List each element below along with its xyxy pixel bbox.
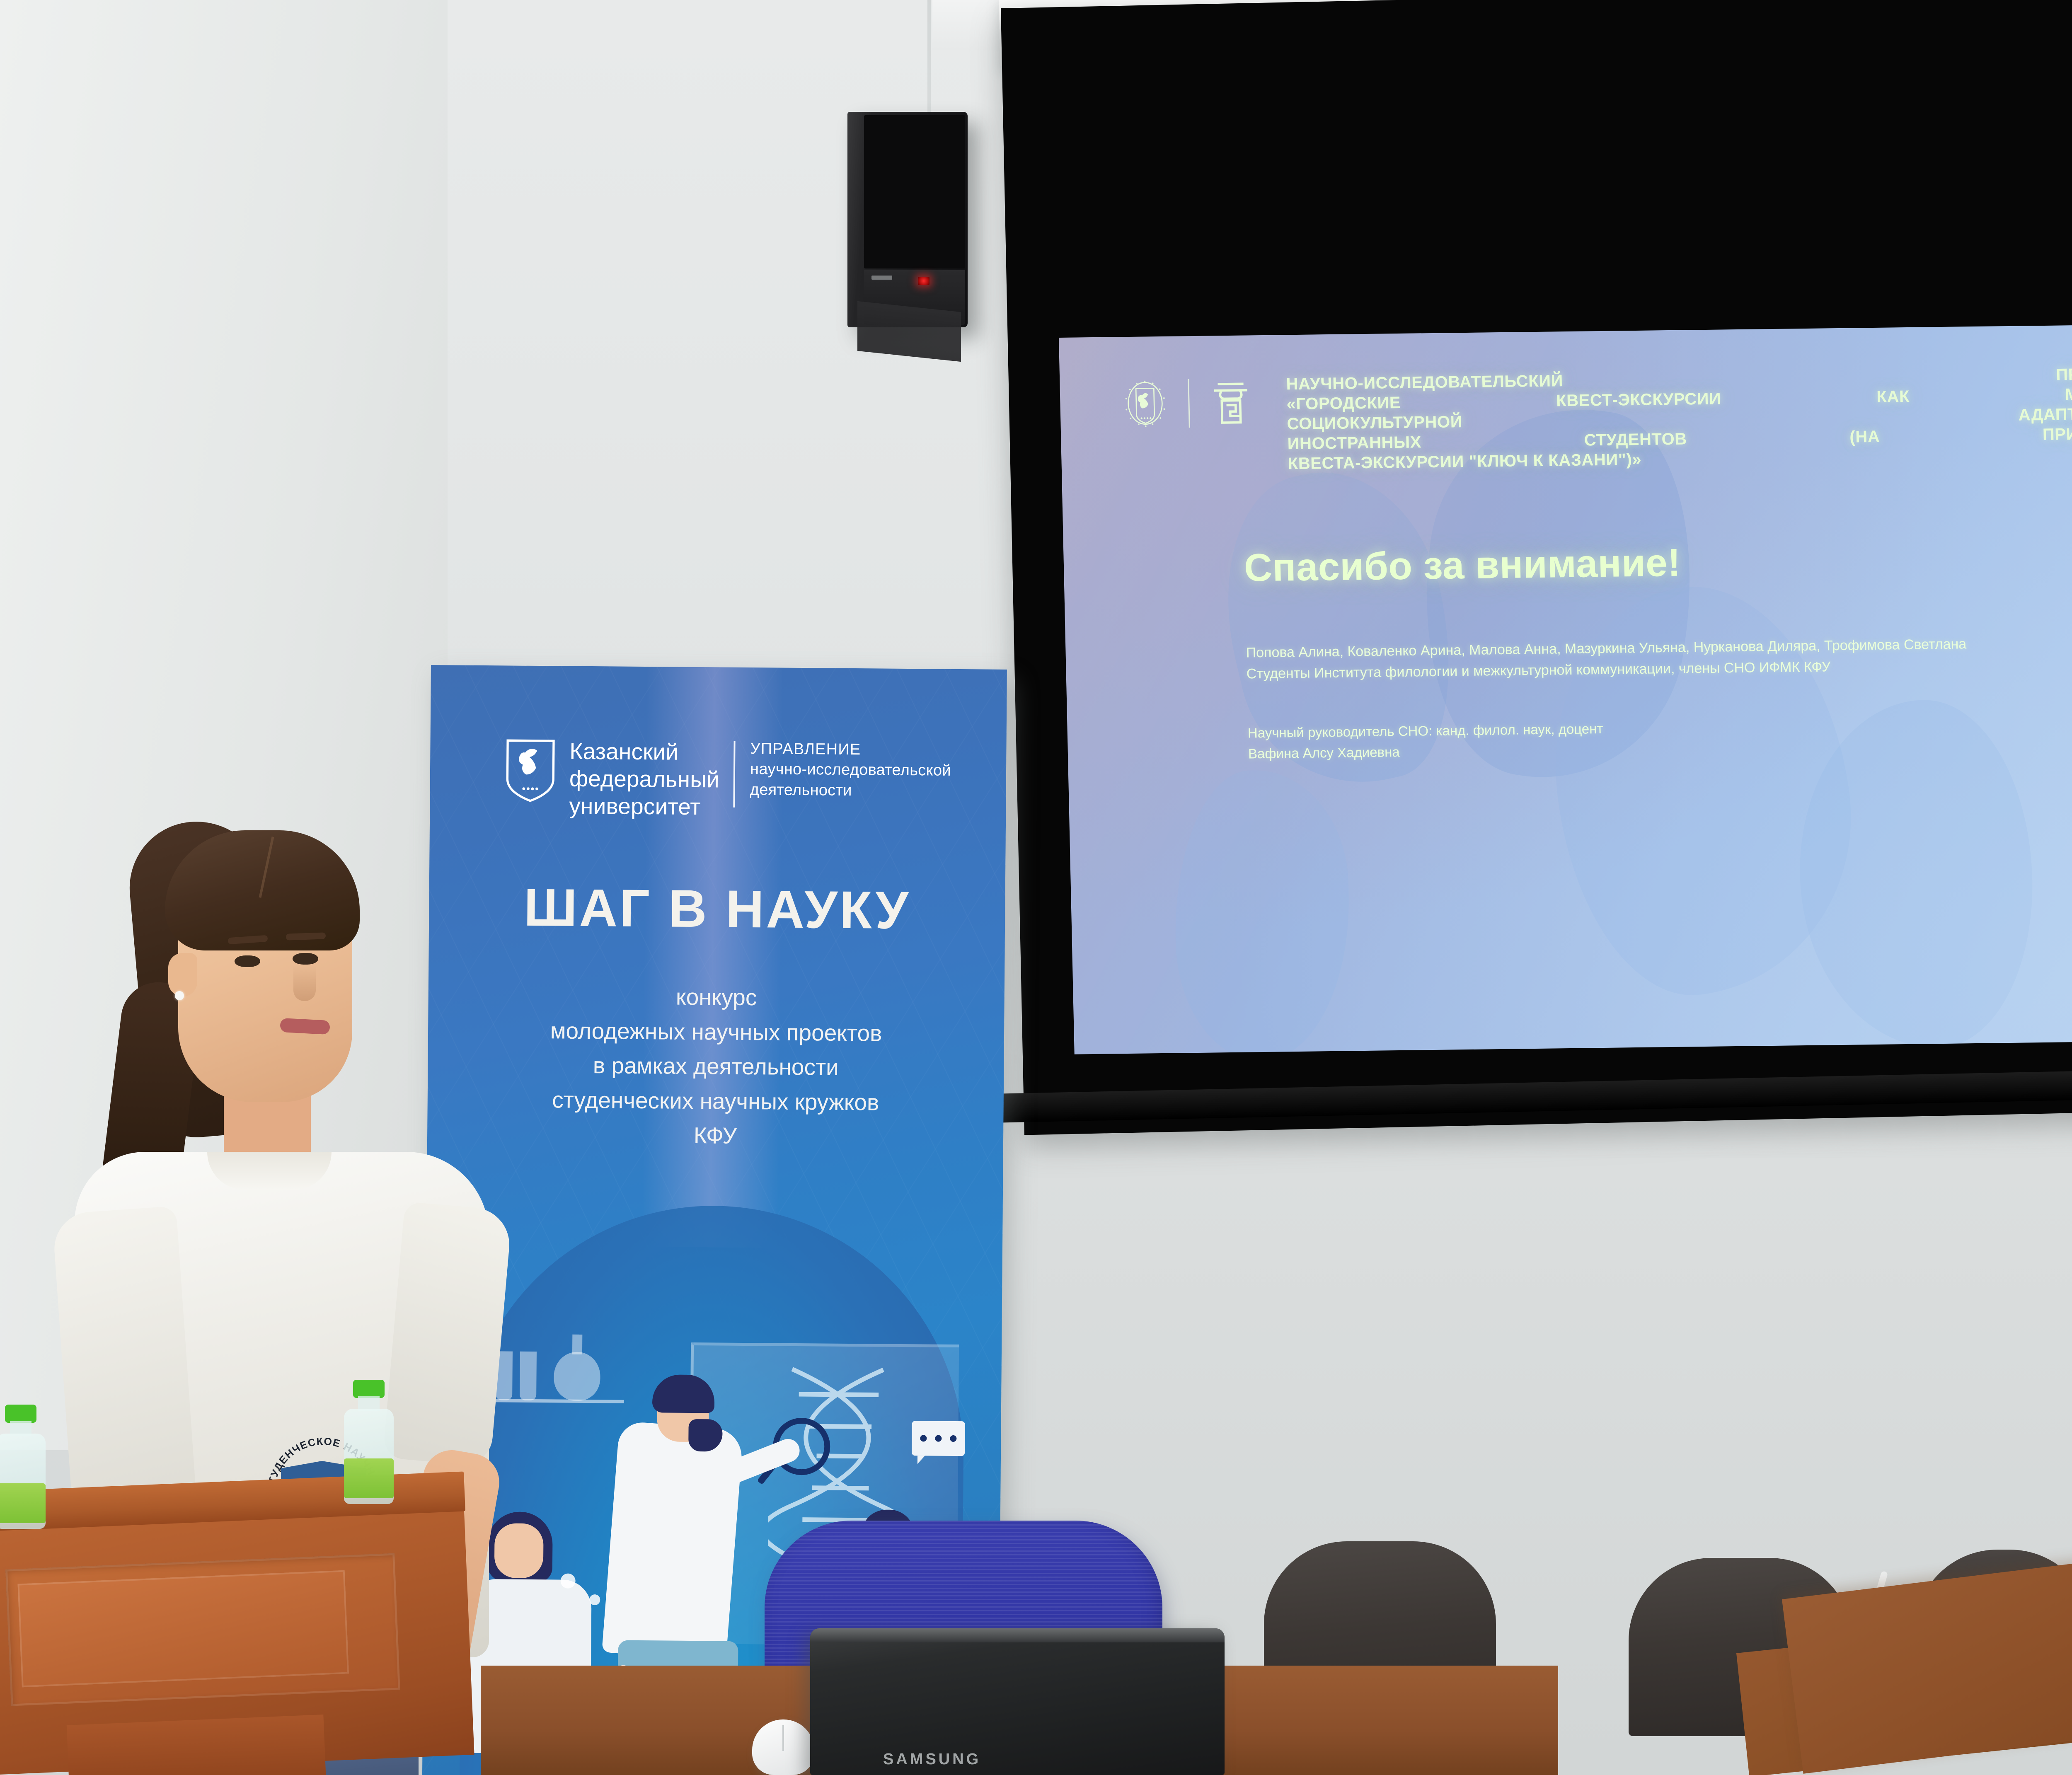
illustration-scientist-coat <box>602 1421 744 1662</box>
bottle-cap <box>5 1405 36 1423</box>
presenter-sleeve-right <box>382 1202 512 1467</box>
logo-divider <box>1188 379 1190 428</box>
presenter-collar <box>207 1152 332 1190</box>
slide-title: НАУЧНО-ИССЛЕДОВАТЕЛЬСКИЙ ПРОЕКТ «ГОРОДСК… <box>1286 364 2072 474</box>
podium-body <box>0 1501 474 1775</box>
department-line: деятельности <box>750 780 951 802</box>
banner-department: УПРАВЛЕНИЕ научно-исследовательской деят… <box>750 739 951 802</box>
podium-panel-outer <box>5 1553 400 1706</box>
presenter-lips <box>280 1018 330 1035</box>
chat-bubble-icon <box>912 1421 965 1456</box>
department-line: научно-исследовательской <box>750 759 951 781</box>
wall-speaker <box>847 112 968 327</box>
presenter-earring <box>175 991 184 1000</box>
presenter-eyebrow <box>286 932 326 940</box>
presenter-sleeve-left <box>52 1206 196 1512</box>
chat-dot <box>920 1435 927 1441</box>
slide-thanks-heading: Спасибо за внимание! <box>1244 534 2072 590</box>
bottle-body <box>0 1434 46 1529</box>
flask-icon <box>554 1352 600 1401</box>
bottle-cap <box>353 1380 385 1398</box>
slide-credits: Попова Алина, Коваленко Арина, Малова Ан… <box>1246 632 2072 684</box>
podium-base <box>67 1715 327 1775</box>
banner-university-name: Казанский федеральный университет <box>569 738 720 821</box>
university-line: университет <box>569 792 719 821</box>
speaker-power-led-icon <box>918 277 929 285</box>
bottle-label <box>344 1458 394 1498</box>
university-line: Казанский <box>569 738 720 766</box>
slide-supervisor: Научный руководитель СНО: канд. филол. н… <box>1247 712 2072 764</box>
presenter-eye <box>293 953 318 965</box>
molecule-dot <box>589 1594 600 1605</box>
molecule-dot <box>561 1574 576 1589</box>
laptop-brand-label: SAMSUNG <box>883 1751 981 1768</box>
chat-dot <box>935 1435 942 1442</box>
mouse-button-split <box>782 1725 784 1751</box>
banner-header: Казанский федеральный университет УПРАВЛ… <box>503 737 951 822</box>
speaker-grille <box>864 115 965 268</box>
bottle-label <box>0 1483 46 1523</box>
water-bottle <box>0 1405 46 1529</box>
lecture-room-photo: НАУЧНО-ИССЛЕДОВАТЕЛЬСКИЙ ПРОЕКТ «ГОРОДСК… <box>0 0 2072 1775</box>
banner-vertical-divider <box>733 741 735 808</box>
speaker-brand-plate <box>871 276 892 280</box>
water-bottle <box>344 1380 394 1504</box>
chat-dot <box>950 1435 956 1442</box>
laptop[interactable]: SAMSUNG <box>810 1628 1225 1775</box>
university-line: федеральный <box>569 765 720 793</box>
presenter-eye <box>235 955 260 967</box>
podium-panel-inner <box>17 1570 349 1688</box>
kfu-crest-icon <box>1120 378 1171 428</box>
presenter-ear <box>168 953 197 996</box>
ifmk-column-icon <box>1207 376 1255 427</box>
presenter-nose <box>293 965 316 1001</box>
computer-mouse[interactable] <box>752 1719 814 1775</box>
department-line: УПРАВЛЕНИЕ <box>750 739 951 761</box>
laptop-lid-edge <box>810 1628 1225 1642</box>
presentation-slide: НАУЧНО-ИССЛЕДОВАТЕЛЬСКИЙ ПРОЕКТ «ГОРОДСК… <box>1059 324 2072 1054</box>
slide-header: НАУЧНО-ИССЛЕДОВАТЕЛЬСКИЙ ПРОЕКТ «ГОРОДСК… <box>1120 364 2072 476</box>
bottle-body <box>344 1409 394 1504</box>
